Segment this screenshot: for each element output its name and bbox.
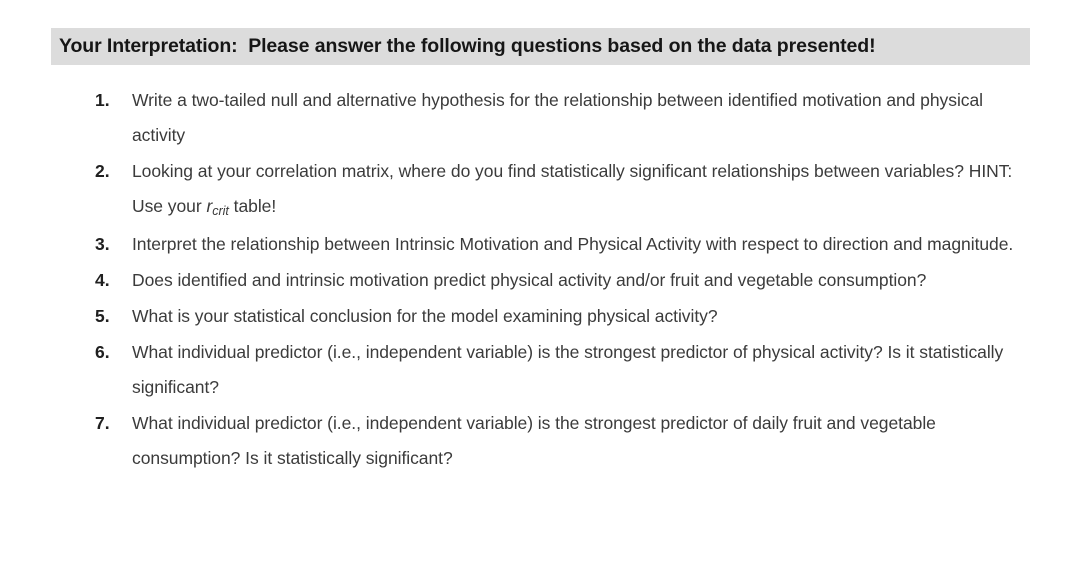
list-item: 6. What individual predictor (i.e., inde…: [0, 335, 1078, 405]
r-symbol-subscript: crit: [212, 204, 229, 218]
list-item-text: What individual predictor (i.e., indepen…: [132, 335, 1062, 405]
list-item: 7. What individual predictor (i.e., inde…: [0, 406, 1078, 476]
list-item-number: 3.: [0, 227, 132, 262]
list-item-number: 7.: [0, 406, 132, 441]
list-item-text: What is your statistical conclusion for …: [132, 299, 1062, 334]
r-crit-symbol: rcrit: [206, 196, 228, 216]
list-item-number: 5.: [0, 299, 132, 334]
list-item-number: 4.: [0, 263, 132, 298]
list-item-text: Interpret the relationship between Intri…: [132, 227, 1062, 262]
list-item-text: What individual predictor (i.e., indepen…: [132, 406, 1062, 476]
list-item-number: 1.: [0, 83, 132, 118]
list-item-text-after: table!: [229, 196, 276, 216]
document-page: Your Interpretation: Please answer the f…: [0, 0, 1078, 568]
list-item: 1. Write a two-tailed null and alternati…: [0, 83, 1078, 153]
page-title: Your Interpretation: Please answer the f…: [51, 35, 875, 58]
list-item-number: 2.: [0, 154, 132, 189]
list-item-text: Does identified and intrinsic motivation…: [132, 263, 1062, 298]
list-item-number: 6.: [0, 335, 132, 370]
interpretation-question-list: 1. Write a two-tailed null and alternati…: [0, 83, 1078, 477]
list-item: 4. Does identified and intrinsic motivat…: [0, 263, 1078, 298]
list-item-text: Write a two-tailed null and alternative …: [132, 83, 1062, 153]
section-header-banner: Your Interpretation: Please answer the f…: [51, 28, 1030, 65]
list-item: 2. Looking at your correlation matrix, w…: [0, 154, 1078, 226]
list-item-text: Looking at your correlation matrix, wher…: [132, 154, 1062, 226]
list-item: 5. What is your statistical conclusion f…: [0, 299, 1078, 334]
list-item: 3. Interpret the relationship between In…: [0, 227, 1078, 262]
